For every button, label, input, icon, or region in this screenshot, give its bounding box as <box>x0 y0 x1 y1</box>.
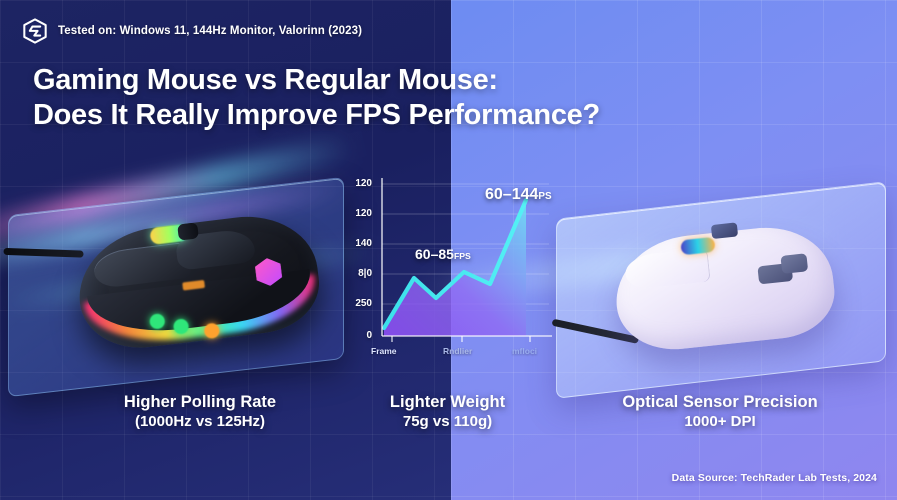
chart-annotation-peak: 60–144PS <box>485 186 552 204</box>
header: Tested on: Windows 11, 144Hz Monitor, Va… <box>0 0 897 134</box>
caption-subtitle: 1000+ DPI <box>555 413 885 432</box>
annotation-value: 60–85 <box>415 246 454 262</box>
page-title: Gaming Mouse vs Regular Mouse: Does It R… <box>33 63 897 134</box>
chart-ytick-label: 140 <box>342 238 372 249</box>
caption-subtitle: (1000Hz vs 125Hz) <box>55 413 345 432</box>
chart-ytick-label: 0 <box>342 330 372 341</box>
chart-xtick-label: mfloci <box>512 346 537 356</box>
scroll-wheel <box>177 222 199 240</box>
chart-area-fill <box>384 200 526 336</box>
feature-caption-polling-rate: Higher Polling Rate (1000Hz vs 125Hz) <box>55 392 345 432</box>
chart-ytick-label: 120 <box>342 208 372 219</box>
headline-line-1: Gaming Mouse vs Regular Mouse: <box>33 64 498 96</box>
infographic-canvas: Tested on: Windows 11, 144Hz Monitor, Va… <box>0 0 897 500</box>
chart-xtick-label: Rndlier <box>443 346 472 356</box>
caption-title: Optical Sensor Precision <box>555 392 885 413</box>
brand-row: Tested on: Windows 11, 144Hz Monitor, Va… <box>22 18 897 44</box>
caption-title: Higher Polling Rate <box>55 392 345 413</box>
dpi-button <box>711 222 738 239</box>
data-source-note: Data Source: TechRader Lab Tests, 2024 <box>672 472 877 484</box>
annotation-unit: PS <box>538 191 551 202</box>
chart-ytick-label: 8|0 <box>342 268 372 279</box>
chart-ytick-label: 250 <box>342 298 372 309</box>
headline-line-2: Does It Really Improve FPS Performance? <box>33 98 897 133</box>
annotation-value: 60–144 <box>485 186 538 203</box>
side-button <box>780 253 808 274</box>
chart-annotation-mid: 60–85FPS <box>415 246 471 262</box>
chart-x-ticks <box>392 336 530 342</box>
tested-on-label: Tested on: Windows 11, 144Hz Monitor, Va… <box>58 25 362 37</box>
feature-caption-weight: Lighter Weight 75g vs 110g) <box>340 392 555 432</box>
caption-subtitle: 75g vs 110g) <box>340 413 555 432</box>
annotation-unit: FPS <box>454 251 471 261</box>
fps-performance-chart: 120 120 140 8|0 250 0 Frame Rndlier mflo… <box>344 170 559 360</box>
hexagon-g-logo-icon <box>22 18 48 44</box>
chart-xtick-label: Frame <box>371 346 397 356</box>
caption-title: Lighter Weight <box>340 392 555 413</box>
feature-caption-sensor: Optical Sensor Precision 1000+ DPI <box>555 392 885 432</box>
regular-mouse-illustration <box>593 205 857 380</box>
chart-ytick-label: 120 <box>342 178 372 189</box>
